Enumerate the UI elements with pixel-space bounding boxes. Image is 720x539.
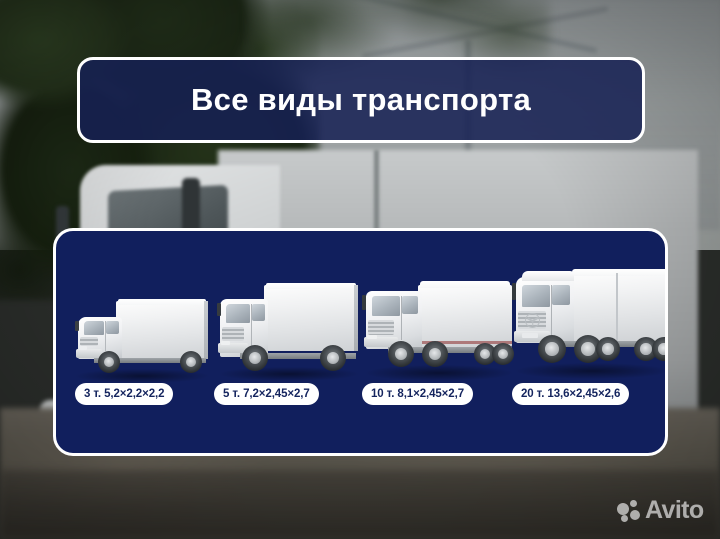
avito-dot-small-bottom — [621, 515, 628, 522]
front-wheel — [538, 335, 566, 363]
avito-dots-icon — [617, 500, 641, 522]
front-grille — [368, 320, 394, 335]
windshield — [522, 285, 550, 307]
cab-door-line — [401, 296, 402, 340]
headlight — [79, 346, 87, 350]
drive-wheel — [422, 341, 448, 367]
box-truck-small-icon — [72, 293, 212, 379]
semi-trailer-truck-icon — [512, 263, 668, 379]
side-window — [252, 304, 265, 321]
rear-wheel — [320, 345, 346, 371]
cargo-box — [116, 301, 208, 359]
roof-spoiler — [522, 271, 574, 281]
windshield — [84, 321, 104, 335]
cargo-box — [264, 285, 358, 351]
rear-wheel — [180, 351, 202, 373]
trailer-roof — [420, 281, 510, 288]
avito-dot-medium — [630, 510, 640, 520]
spec-label: 5 т. 7,2×2,45×2,7 — [214, 383, 319, 405]
semi-truck-icon — [362, 271, 514, 379]
spec-label: 10 т. 8,1×2,45×2,7 — [362, 383, 473, 405]
side-window — [552, 285, 570, 305]
vehicle-lineup-panel: 3 т. 5,2×2,2×2,2 — [53, 228, 668, 456]
vehicle-item-4: 20 т. 13,6×2,45×2,6 — [508, 231, 668, 453]
vehicle-item-3: 10 т. 8,1×2,45×2,7 — [356, 231, 516, 453]
vehicle-item-2: 5 т. 7,2×2,45×2,7 — [208, 231, 363, 453]
front-wheel — [242, 345, 268, 371]
windshield — [226, 304, 250, 323]
truck-shadow — [516, 363, 668, 379]
vehicle-item-1: 3 т. 5,2×2,2×2,2 — [64, 231, 214, 453]
front-grille — [222, 327, 244, 341]
side-window — [106, 321, 119, 334]
door-line — [251, 304, 252, 346]
avito-dot-large — [617, 503, 629, 515]
headlight — [221, 341, 230, 345]
trailer-body — [418, 285, 512, 347]
side-mirror — [75, 321, 79, 331]
title-banner: Все виды транспорта — [77, 57, 645, 143]
avito-dot-small-top — [630, 500, 637, 507]
cargo-box-top — [266, 283, 356, 289]
headlight-left — [367, 335, 377, 339]
side-window — [402, 296, 418, 314]
truck-shadow — [366, 365, 512, 381]
windshield — [372, 296, 400, 316]
drive-wheel-2 — [596, 337, 620, 361]
trailer-seam — [616, 273, 618, 341]
side-mirror — [362, 295, 366, 310]
license-plate — [522, 333, 538, 338]
cargo-box-top — [118, 299, 206, 305]
side-mirror — [217, 303, 221, 316]
promo-poster: Все виды транспорта — [0, 0, 720, 539]
spec-label: 20 т. 13,6×2,45×2,6 — [512, 383, 629, 405]
front-wheel — [98, 351, 120, 373]
page-title: Все виды транспорта — [191, 82, 531, 118]
cab-door-line — [551, 285, 552, 335]
trailer-roof — [572, 269, 668, 276]
front-wheel — [388, 341, 414, 367]
box-truck-medium-icon — [216, 283, 361, 379]
avito-wordmark: Avito — [645, 498, 704, 523]
front-grille — [80, 337, 98, 346]
avito-watermark: Avito — [617, 498, 704, 523]
vehicle-row: 3 т. 5,2×2,2×2,2 — [56, 231, 665, 453]
spec-label: 3 т. 5,2×2,2×2,2 — [75, 383, 173, 405]
mercedes-star-icon — [525, 313, 540, 328]
side-mirror — [512, 283, 516, 300]
door-line — [105, 321, 106, 351]
trailer-body — [570, 273, 668, 341]
